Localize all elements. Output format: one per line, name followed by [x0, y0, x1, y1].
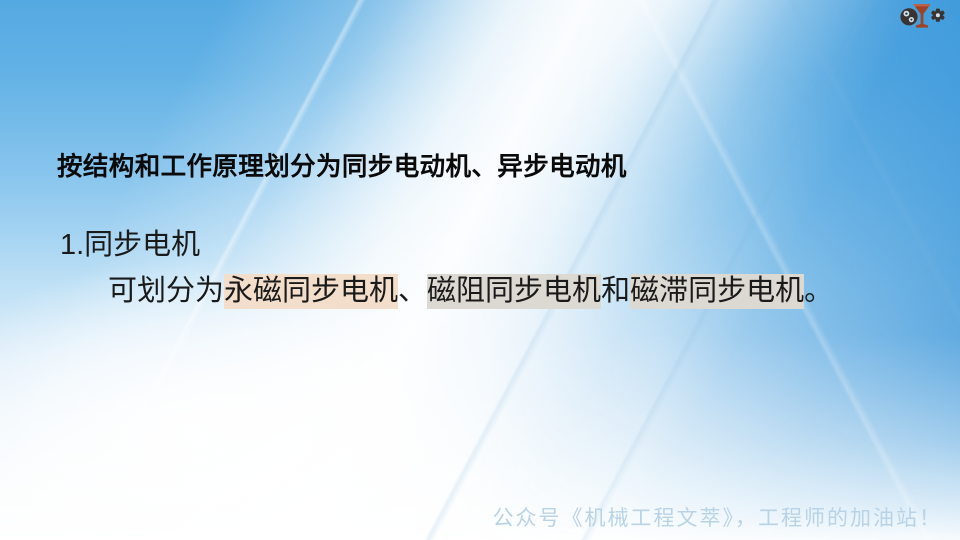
slide-body: 1.同步电机 可划分为永磁同步电机、磁阻同步电机和磁滞同步电机。 — [60, 222, 833, 314]
highlight-hysteresis-motor: 磁滞同步电机 — [630, 274, 804, 309]
body-separator: 、 — [398, 275, 427, 307]
slide-title: 按结构和工作原理划分为同步电动机、异步电动机 — [57, 146, 627, 183]
body-conjunction: 和 — [601, 275, 630, 307]
mechanical-engineering-logo-icon — [898, 2, 946, 30]
body-line-heading: 1.同步电机 — [60, 222, 833, 268]
body-lead-text: 可划分为 — [108, 275, 224, 307]
body-period: 。 — [804, 275, 833, 307]
highlight-reluctance-motor: 磁阻同步电机 — [427, 274, 601, 309]
slide-canvas: 按结构和工作原理划分为同步电动机、异步电动机 1.同步电机 可划分为永磁同步电机… — [0, 0, 960, 540]
body-line-detail: 可划分为永磁同步电机、磁阻同步电机和磁滞同步电机。 — [60, 268, 833, 314]
highlight-permanent-magnet-motor: 永磁同步电机 — [224, 274, 398, 309]
footer-watermark: 公众号《机械工程文萃》，工程师的加油站！ — [493, 502, 943, 532]
